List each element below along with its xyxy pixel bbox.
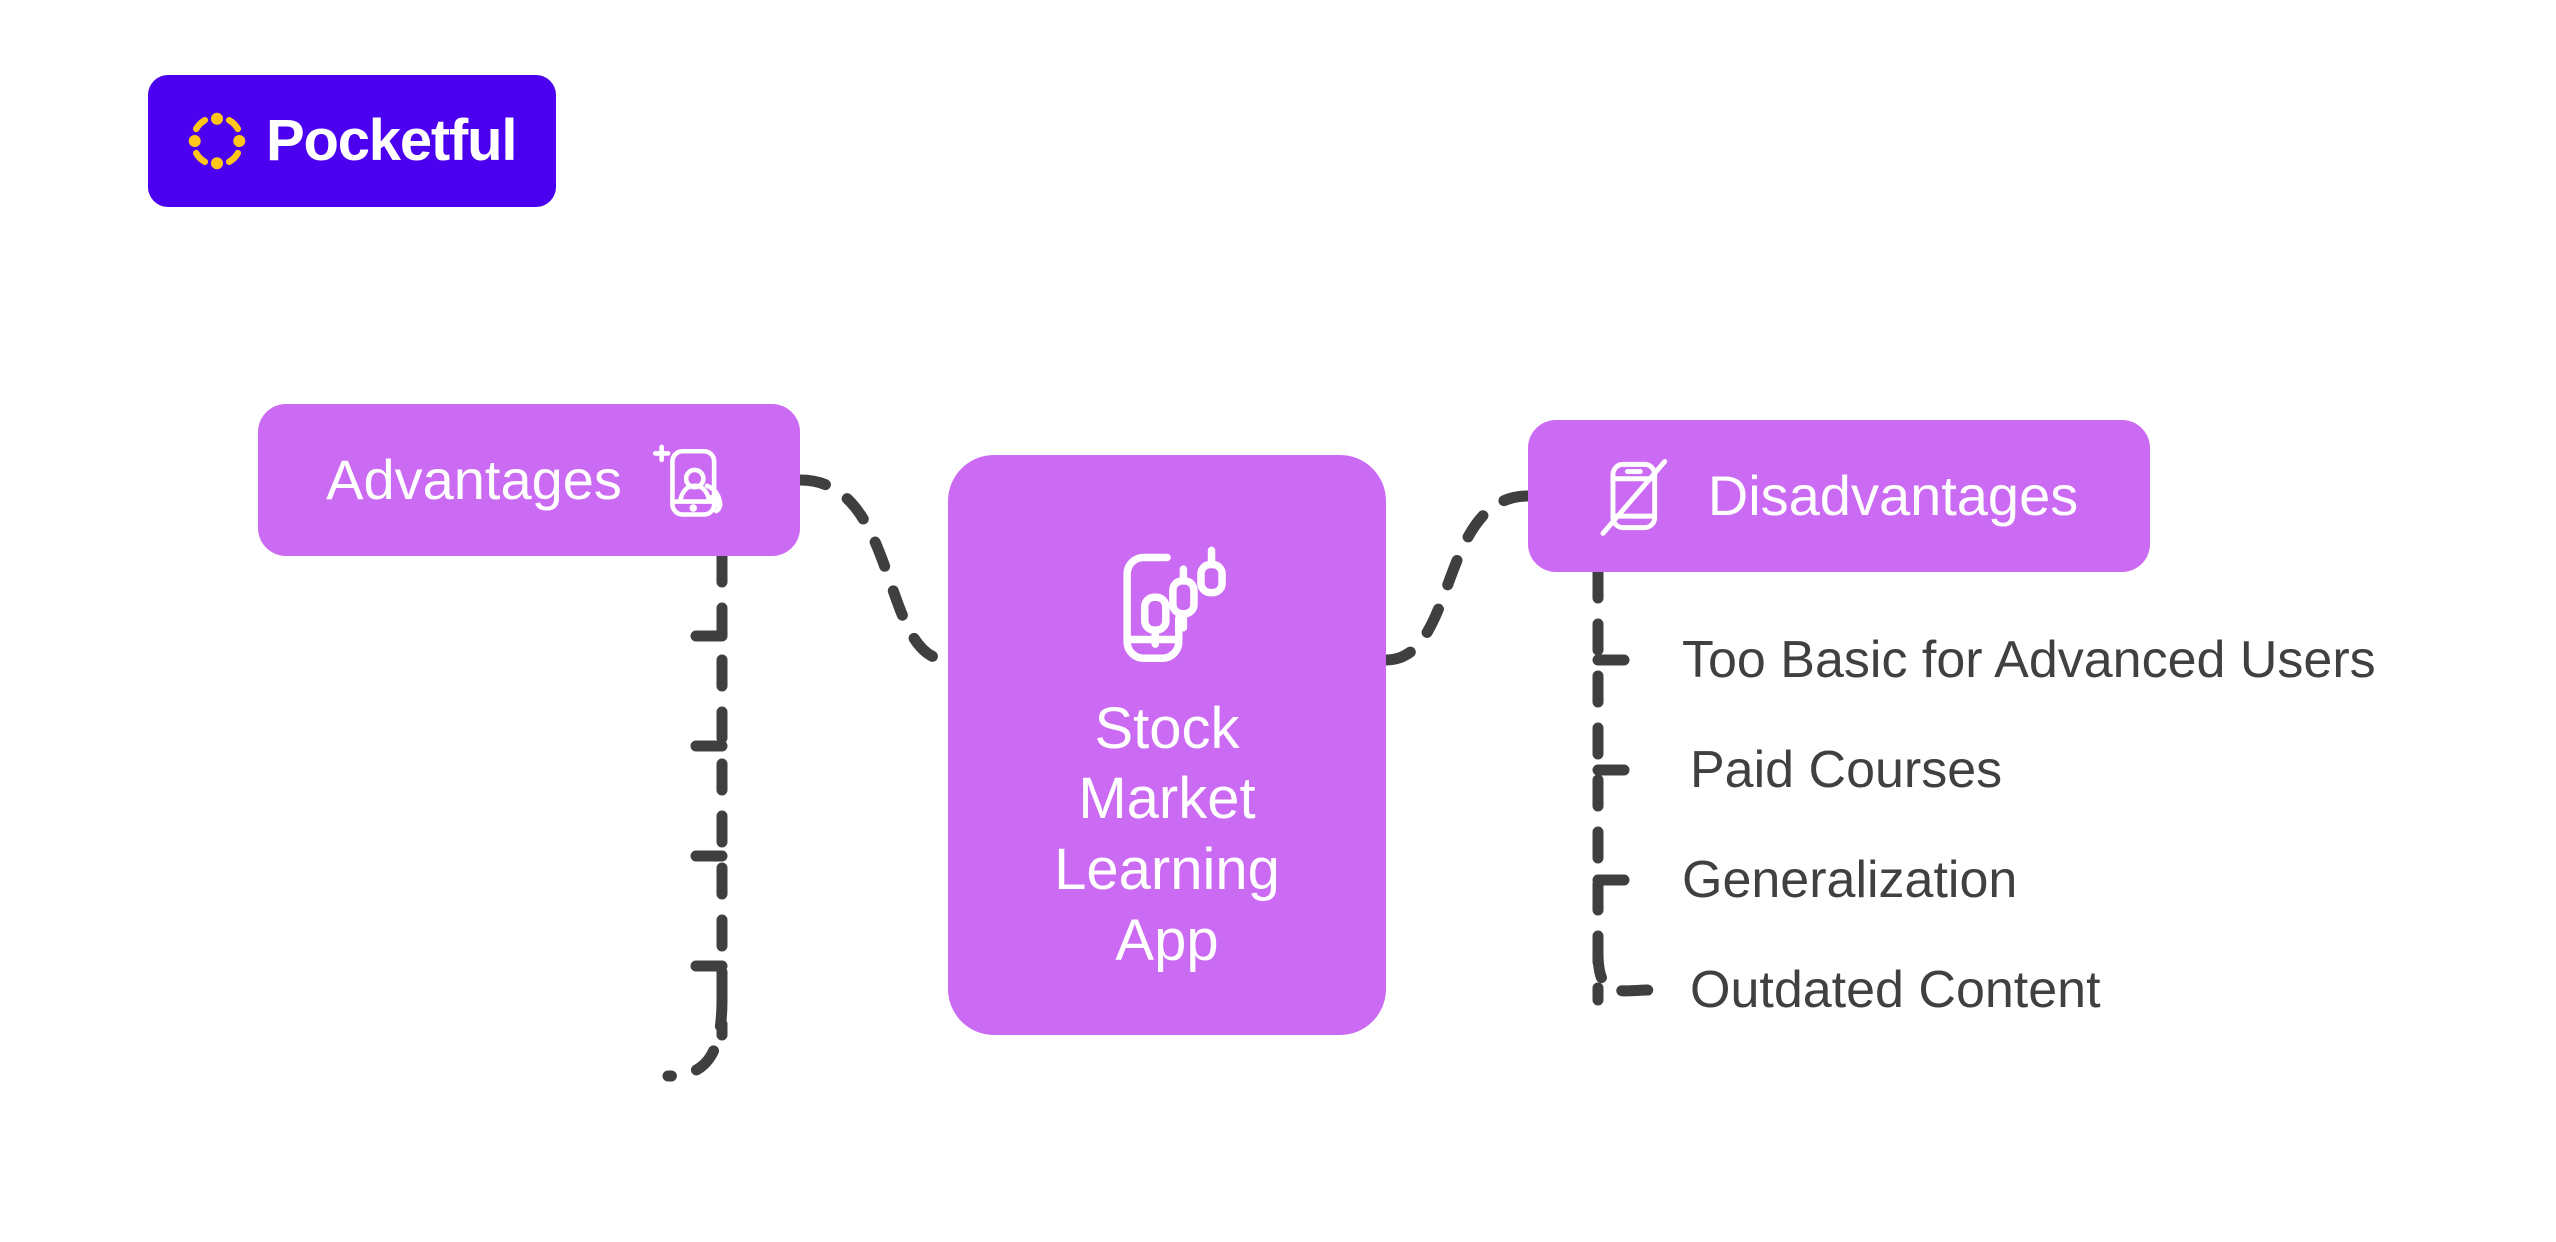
brand-logo: Pocketful	[148, 75, 556, 207]
list-item[interactable]: Generalization	[1682, 854, 2017, 906]
phone-user-touch-sparkle-icon	[648, 434, 740, 526]
wire-dis-tick-4	[1598, 952, 1652, 991]
wire-center-to-disadvantages	[1386, 496, 1528, 660]
node-disadvantages-label: Disadvantages	[1708, 466, 2078, 526]
list-item[interactable]: Paid Courses	[1690, 744, 2002, 796]
wire-advantages-to-center	[800, 480, 948, 660]
brand-name: Pocketful	[266, 112, 516, 170]
phone-crossed-out-icon	[1590, 450, 1682, 542]
node-advantages[interactable]: Advantages	[258, 404, 800, 556]
sunburst-pinwheel-icon	[186, 110, 248, 172]
node-disadvantages[interactable]: Disadvantages	[1528, 420, 2150, 572]
phone-candlestick-chart-icon	[1092, 534, 1242, 684]
node-advantages-label: Advantages	[326, 450, 622, 510]
diagram-canvas: Pocketful Advanta	[0, 0, 2556, 1242]
node-center-topic[interactable]: Stock Market Learning App	[948, 455, 1386, 1035]
list-item[interactable]: Outdated Content	[1690, 964, 2101, 1016]
node-center-label: Stock Market Learning App	[1054, 694, 1280, 977]
wire-adv-tick-5	[668, 1000, 722, 1076]
list-item[interactable]: Too Basic for Advanced Users	[1682, 634, 2376, 686]
